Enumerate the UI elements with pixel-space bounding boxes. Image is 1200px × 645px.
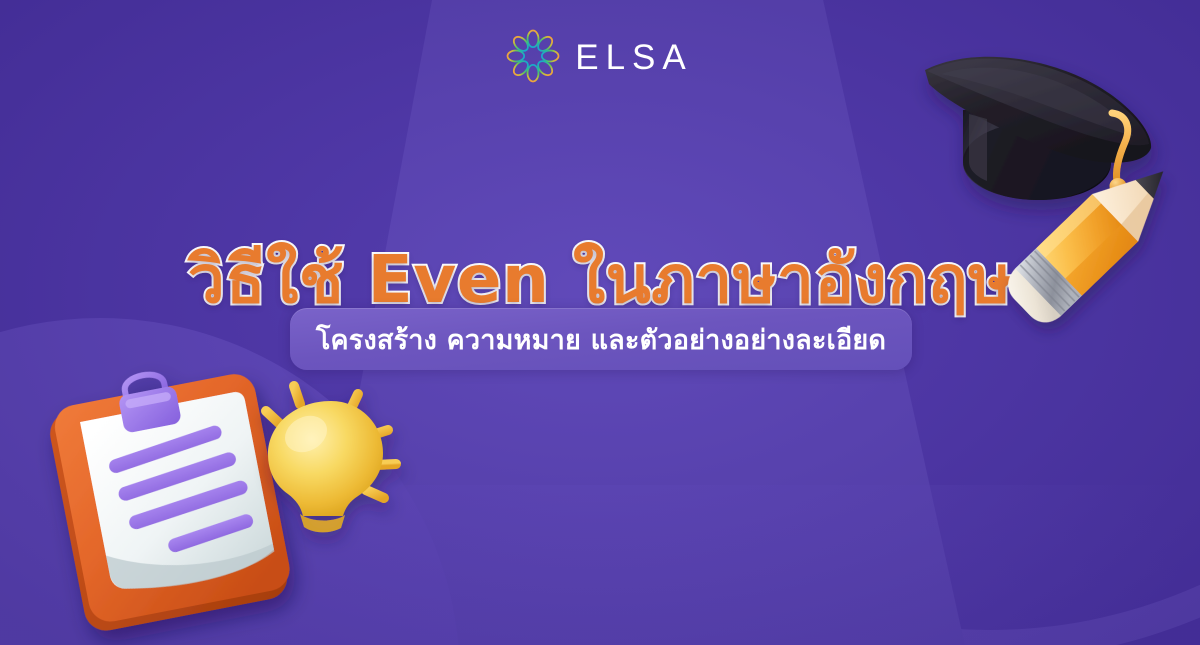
brand-wordmark: ELSA bbox=[575, 38, 693, 75]
pencil-icon bbox=[985, 215, 1160, 380]
hero-subtitle-pill: โครงสร้าง ความหมาย และตัวอย่างอย่างละเอี… bbox=[290, 308, 912, 370]
hero-subtitle-text: โครงสร้าง ความหมาย และตัวอย่างอย่างละเอี… bbox=[316, 318, 886, 361]
hero-banner: ELSA วิธีใช้ Even ในภาษาอังกฤษ โครงสร้าง… bbox=[0, 0, 1200, 645]
elsa-flower-logo-icon bbox=[507, 30, 559, 82]
lightbulb-icon bbox=[238, 368, 423, 553]
graduation-cap-icon bbox=[905, 18, 1200, 233]
